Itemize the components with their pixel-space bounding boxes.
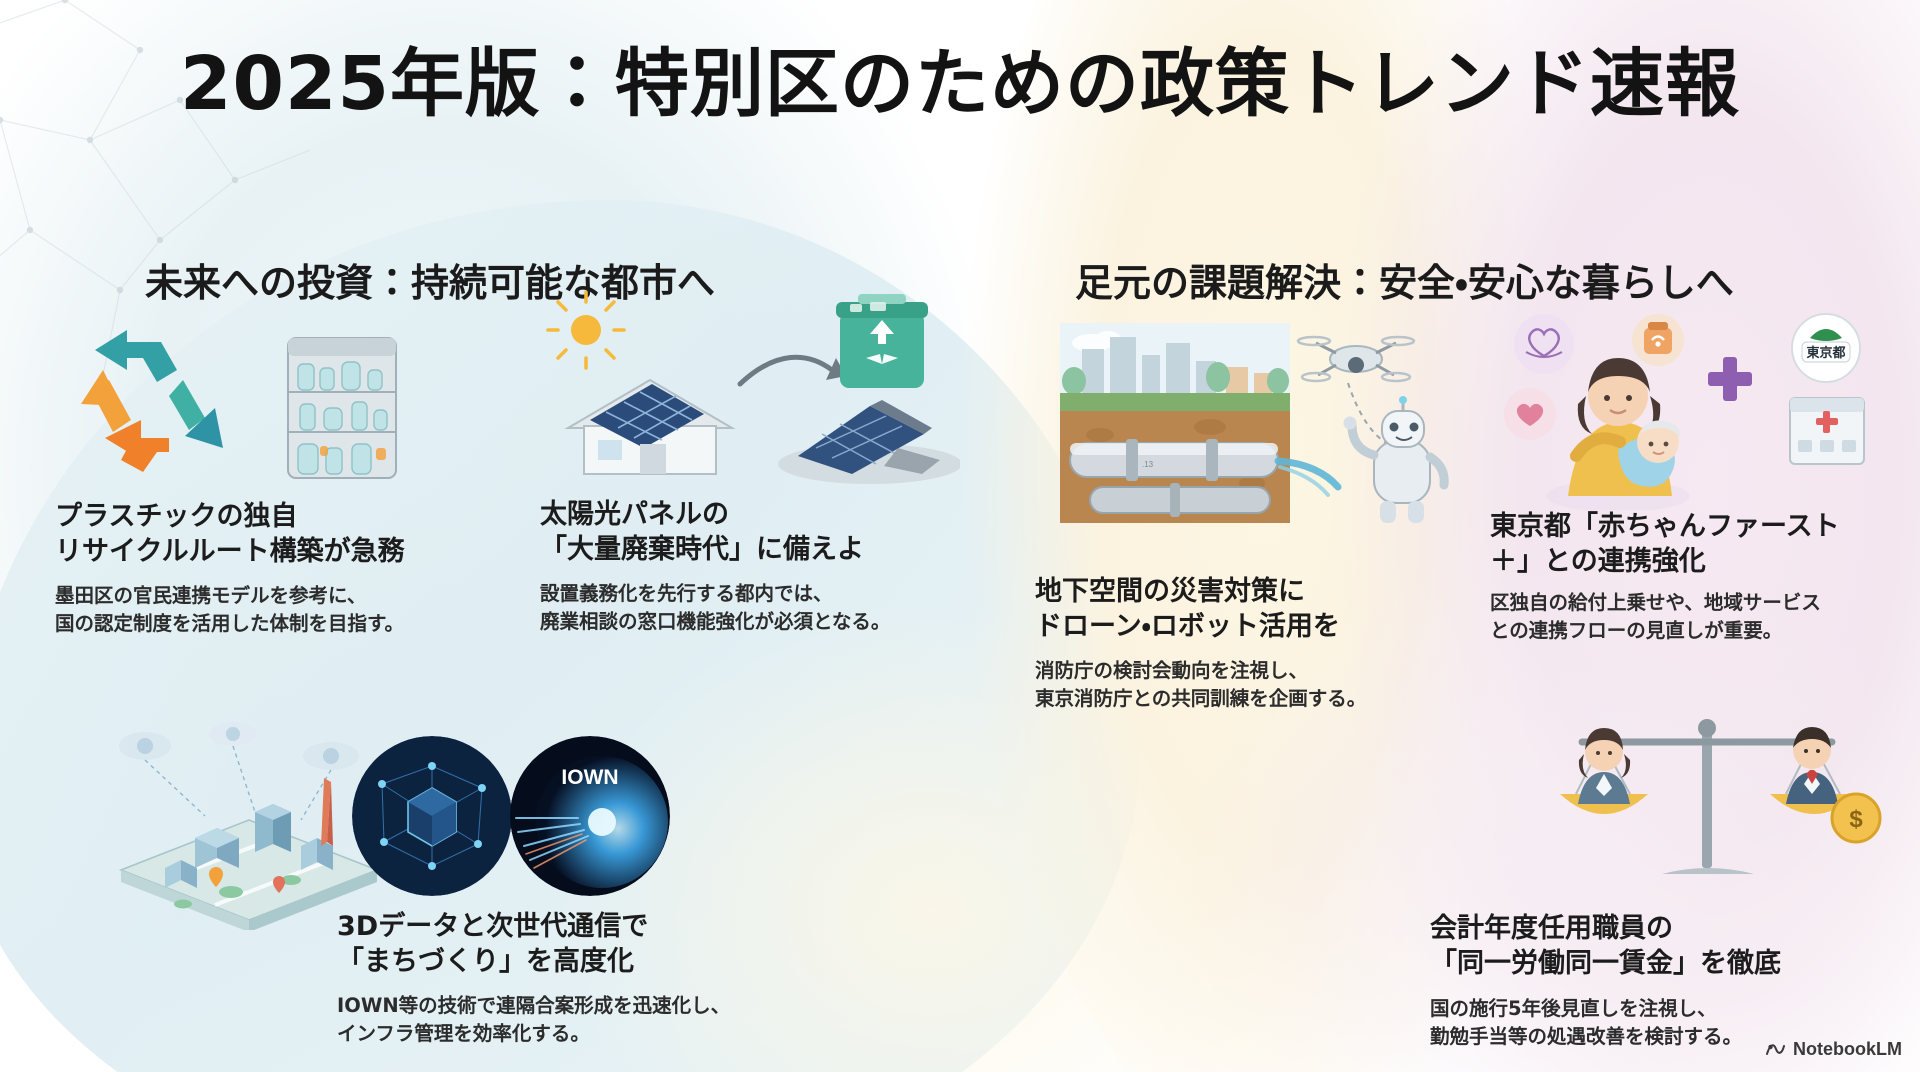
recycling-bin-bottles-illustration	[260, 320, 425, 495]
section-heading-right: 足元の課題解決：安全・安心な暮らしへ	[1075, 252, 1734, 307]
pipe-marking: .13	[1142, 460, 1154, 469]
underground-pipes-drone-robot-illustration: .13	[1030, 315, 1460, 565]
card-plastic-recycle-heading: プラスチックの独自 リサイクルルート構築が急務	[55, 500, 475, 569]
card-baby-first-heading: 東京都「赤ちゃんファースト ＋」との連携強化	[1490, 510, 1910, 579]
card-underground-disaster-body: 消防庁の検討会動向を注視し、 東京消防庁との共同訓練を企画する。	[1035, 657, 1465, 714]
iown-label: IOWN	[561, 766, 618, 789]
tokyo-badge-label: 東京都	[1806, 345, 1845, 361]
card-equal-pay-heading: 会計年度任用職員の 「同一労働同一賃金」を徹底	[1430, 912, 1920, 981]
solar-house-recycle-illustration	[540, 288, 960, 488]
card-3d-data-iown-heading: 3Dデータと次世代通信で 「まちづくり」を高度化	[337, 910, 807, 979]
card-solar-panel-body: 設置義務化を先行する都内では、 廃業相談の窓口機能強化が必須となる。	[540, 580, 960, 637]
card-baby-first-body: 区独自の給付上乗せや、地域サービス との連携フローの見直しが重要。	[1490, 589, 1910, 646]
network-nodes-illustration	[352, 736, 512, 896]
notebooklm-label: NotebookLM	[1793, 1039, 1902, 1060]
notebooklm-footer: NotebookLM	[1764, 1038, 1902, 1060]
balance-scale-illustration: $	[1510, 690, 1910, 905]
card-solar-panel-heading: 太陽光パネルの 「大量廃棄時代」に備えよ	[540, 498, 960, 567]
recycle-arrows-illustration	[65, 320, 265, 480]
page-title: 2025年版：特別区のための政策トレンド速報	[0, 24, 1920, 131]
mother-baby-tokyo-illustration: 東京都	[1490, 300, 1910, 510]
card-underground-disaster-heading: 地下空間の災害対策に ドローン・ロボット活用を	[1035, 575, 1465, 644]
card-plastic-recycle-body: 墨田区の官民連携モデルを参考に、 国の認定制度を活用した体制を目指す。	[55, 582, 475, 639]
iown-photonics-illustration: IOWN	[510, 736, 670, 896]
notebooklm-icon	[1764, 1038, 1786, 1060]
coin-symbol: $	[1849, 806, 1863, 833]
card-3d-data-iown-body: IOWN等の技術で連隔合案形成を迅速化し、 インフラ管理を効率化する。	[337, 992, 807, 1049]
smart-city-3d-illustration	[105, 720, 395, 930]
